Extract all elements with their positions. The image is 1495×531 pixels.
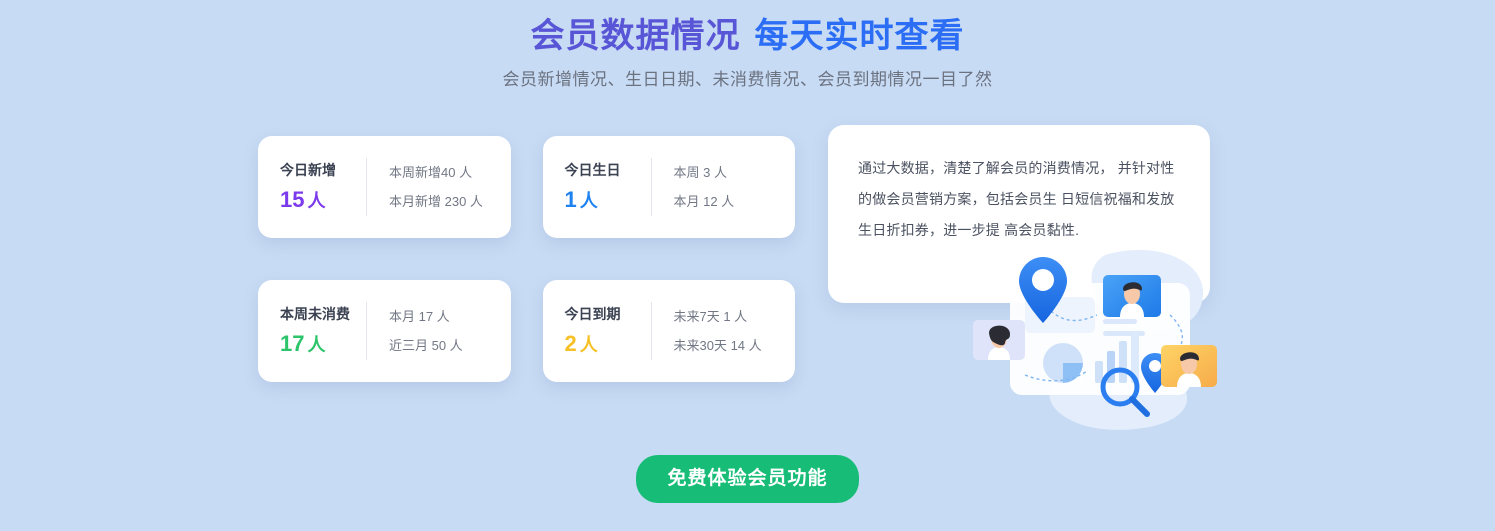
stat-subline-month: 本月新增 230 人 <box>389 194 511 210</box>
stat-value: 2人 <box>565 331 651 358</box>
user-card-lavender <box>973 320 1025 360</box>
page-title-segment-secondary: 每天实时查看 <box>755 17 965 55</box>
stat-value-number: 1 <box>565 187 577 212</box>
content-area: 今日新增 15人 本周新增40 人 本月新增 230 人 今日生日 1人 本周 … <box>0 125 1495 415</box>
stat-primary-block: 今日新增 15人 <box>258 160 366 214</box>
stat-primary-block: 今日生日 1人 <box>543 160 651 214</box>
stat-value-unit: 人 <box>307 191 325 211</box>
illustration <box>955 235 1230 435</box>
stat-secondary-block: 本月 17 人 近三月 50 人 <box>367 309 511 354</box>
stat-subline-week: 本周新增40 人 <box>389 165 511 181</box>
stat-value-unit: 人 <box>580 335 598 355</box>
user-card-yellow <box>1161 345 1217 387</box>
page-title: 会员数据情况每天实时查看 <box>0 14 1495 58</box>
free-trial-button[interactable]: 免费体验会员功能 <box>636 455 858 503</box>
stat-secondary-block: 未来7天 1 人 未来30天 14 人 <box>652 309 796 354</box>
illustration-svg <box>955 235 1230 435</box>
stat-value-number: 17 <box>280 331 304 356</box>
page-subtitle: 会员新增情况、生日日期、未消费情况、会员到期情况一目了然 <box>0 68 1495 92</box>
stat-card-no-spend-this-week[interactable]: 本周未消费 17人 本月 17 人 近三月 50 人 <box>258 280 511 382</box>
stat-value-unit: 人 <box>307 335 325 355</box>
stat-primary-block: 今日到期 2人 <box>543 304 651 358</box>
stat-card-row-top: 今日新增 15人 本周新增40 人 本月新增 230 人 今日生日 1人 本周 … <box>258 136 795 238</box>
cta-container: 免费体验会员功能 <box>0 455 1495 503</box>
stat-primary-block: 本周未消费 17人 <box>258 304 366 358</box>
user-card-blue <box>1103 275 1161 317</box>
stat-subline-next-7-days: 未来7天 1 人 <box>674 309 796 325</box>
stat-subline-quarter: 近三月 50 人 <box>389 338 511 354</box>
stat-card-birthday-today[interactable]: 今日生日 1人 本周 3 人 本月 12 人 <box>543 136 796 238</box>
stat-value: 15人 <box>280 187 366 214</box>
pie-chart-icon <box>1043 343 1083 383</box>
stat-secondary-block: 本周 3 人 本月 12 人 <box>652 165 796 210</box>
stat-label: 本周未消费 <box>280 304 366 324</box>
stat-value-number: 2 <box>565 331 577 356</box>
page-title-segment-primary: 会员数据情况 <box>531 17 741 55</box>
stat-value-number: 15 <box>280 187 304 212</box>
stat-card-grid: 今日新增 15人 本周新增40 人 本月新增 230 人 今日生日 1人 本周 … <box>258 136 795 382</box>
stat-secondary-block: 本周新增40 人 本月新增 230 人 <box>367 165 511 210</box>
stat-subline-month: 本月 17 人 <box>389 309 511 325</box>
stat-value: 17人 <box>280 331 366 358</box>
stat-card-row-bottom: 本周未消费 17人 本月 17 人 近三月 50 人 今日到期 2人 未来7天 … <box>258 280 795 382</box>
stat-subline-week: 本周 3 人 <box>674 165 796 181</box>
page-header: 会员数据情况每天实时查看 会员新增情况、生日日期、未消费情况、会员到期情况一目了… <box>0 0 1495 92</box>
stat-label: 今日新增 <box>280 160 366 180</box>
stat-value-unit: 人 <box>580 191 598 211</box>
stat-subline-next-30-days: 未来30天 14 人 <box>674 338 796 354</box>
stat-label: 今日到期 <box>565 304 651 324</box>
stat-card-expiring-today[interactable]: 今日到期 2人 未来7天 1 人 未来30天 14 人 <box>543 280 796 382</box>
stat-card-new-members-today[interactable]: 今日新增 15人 本周新增40 人 本月新增 230 人 <box>258 136 511 238</box>
info-panel-text: 通过大数据，清楚了解会员的消费情况， 并针对性的做会员营销方案，包括会员生 日短… <box>858 153 1180 246</box>
stat-subline-month: 本月 12 人 <box>674 194 796 210</box>
stat-label: 今日生日 <box>565 160 651 180</box>
stat-value: 1人 <box>565 187 651 214</box>
